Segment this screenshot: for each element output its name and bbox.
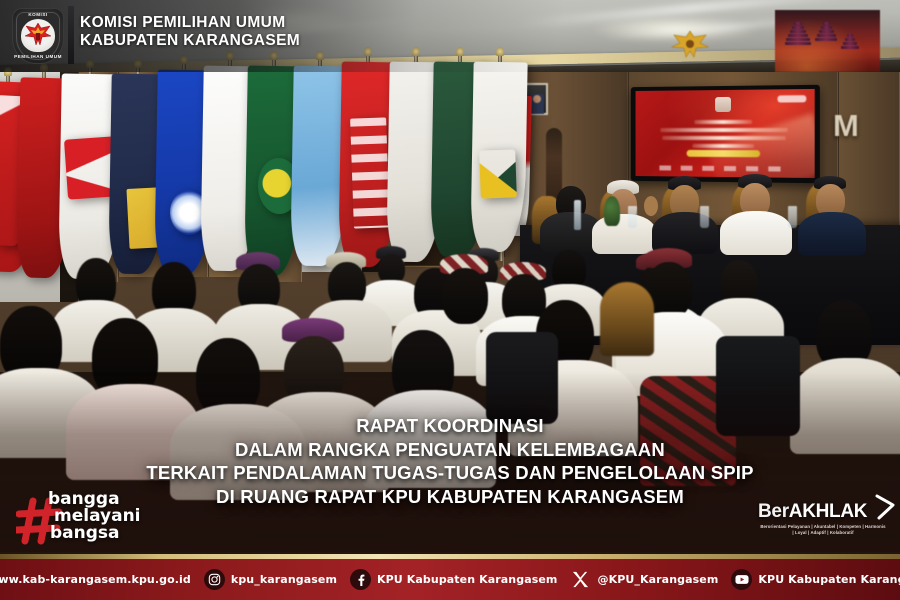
garuda-icon <box>23 21 53 52</box>
berakhlak-logo: BerAKHLAK Berorientasi Pelayanan | Akunt… <box>758 500 892 546</box>
instagram-icon <box>204 569 225 590</box>
x-twitter-icon <box>570 569 591 590</box>
caption-line-1: RAPAT KOORDINASI <box>0 414 900 438</box>
youtube-label: KPU Kabupaten Karangasem <box>758 573 900 586</box>
drinking-glass <box>628 206 637 228</box>
facebook-label: KPU Kabupaten Karangasem <box>377 573 557 586</box>
berakhlak-wordmark: BerAKHLAK <box>758 502 867 521</box>
drinking-glass <box>788 206 797 228</box>
table-plant <box>604 196 620 226</box>
slide-title-line <box>692 144 754 148</box>
x-label: @KPU_Karangasem <box>597 573 718 586</box>
slide-content <box>636 89 815 178</box>
slide-kpu-badge <box>777 95 806 102</box>
footer-item-instagram[interactable]: kpu_karangasem <box>204 569 337 590</box>
pks-mark <box>479 149 517 198</box>
kpu-logo-text-bottom: PEMILIHAN UMUM <box>12 54 64 59</box>
carved-chair <box>600 282 654 356</box>
header-title-block: KOMISI PEMILIHAN UMUM KABUPATEN KARANGAS… <box>80 14 300 51</box>
website-label: www.kab-karangasem.kpu.go.id <box>0 573 191 586</box>
header-bar: KOMISI PEMILIHAN UMUM KOMISI PEMILIHAN U… <box>0 0 900 72</box>
drinking-glass <box>700 206 709 228</box>
slide-logo <box>715 97 731 112</box>
presentation-screen <box>631 85 820 183</box>
header-line-2: KABUPATEN KARANGASEM <box>80 32 300 50</box>
water-bottle <box>574 200 581 230</box>
footer-bar: www.kab-karangasem.kpu.go.id kpu_karanga… <box>0 554 900 600</box>
arrow-icon <box>874 494 896 520</box>
social-links-row: www.kab-karangasem.kpu.go.id kpu_karanga… <box>0 559 900 600</box>
header-divider <box>68 6 74 64</box>
berakhlak-main: AKHLAK <box>789 501 867 522</box>
bangga-melayani-bangsa-logo: bangga melayani bangsa <box>16 489 156 551</box>
slide-date-pill <box>687 150 761 157</box>
header-line-1: KOMISI PEMILIHAN UMUM <box>80 14 300 32</box>
berakhlak-prefix: Ber <box>758 501 789 522</box>
instagram-label: kpu_karangasem <box>231 573 337 586</box>
kpu-logo: KOMISI PEMILIHAN UMUM <box>12 8 64 64</box>
slide-partner-logos <box>659 165 788 171</box>
footer-item-facebook[interactable]: KPU Kabupaten Karangasem <box>350 569 557 590</box>
wall-signage-letter: M <box>833 108 860 144</box>
caption-line-3: TERKAIT PENDALAMAN TUGAS-TUGAS DAN PENGE… <box>0 461 900 485</box>
slide-title-line <box>662 136 785 140</box>
caption-line-2: DALAM RANGKA PENGUATAN KELEMBAGAAN <box>0 438 900 462</box>
psi-text-block <box>350 117 390 228</box>
footer-item-website[interactable]: www.kab-karangasem.kpu.go.id <box>0 569 191 590</box>
bangga-word-3: bangsa <box>50 525 141 542</box>
poster-canvas: M <box>0 0 900 600</box>
youtube-icon <box>731 569 752 590</box>
footer-item-x[interactable]: @KPU_Karangasem <box>570 569 718 590</box>
slide-title-line <box>694 120 752 124</box>
berakhlak-tagline: Berorientasi Pelayanan | Akuntabel | Kom… <box>760 524 886 536</box>
bangga-logo-words: bangga melayani bangsa <box>48 491 141 541</box>
slide-title-line <box>660 128 787 132</box>
facebook-icon <box>350 569 371 590</box>
kpu-logo-text-top: KOMISI <box>12 12 64 17</box>
footer-item-youtube[interactable]: KPU Kabupaten Karangasem <box>731 569 900 590</box>
